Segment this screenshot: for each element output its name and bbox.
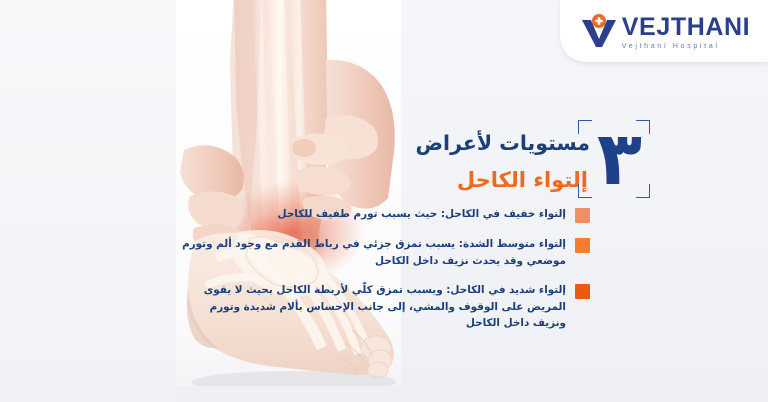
severity-marker-severe bbox=[575, 284, 590, 299]
list-item: إلتواء خفيف في الكاحل: حيث يسبب تورم طفي… bbox=[176, 206, 590, 223]
left-background-panel bbox=[0, 0, 176, 402]
headline-row: مستويات لأعراض ٣ bbox=[180, 126, 590, 162]
severity-text-mild: إلتواء خفيف في الكاحل: حيث يسبب تورم طفي… bbox=[176, 206, 566, 223]
bracket-corner-top-left bbox=[578, 120, 592, 134]
logo-subtitle: Vejthani Hospital bbox=[622, 42, 750, 49]
severity-marker-moderate bbox=[575, 238, 590, 253]
severity-marker-mild bbox=[575, 208, 590, 223]
list-item: إلتواء متوسط الشدة: يسبب تمزق جزئي في رب… bbox=[176, 236, 590, 269]
severity-text-moderate: إلتواء متوسط الشدة: يسبب تمزق جزئي في رب… bbox=[176, 236, 566, 269]
infographic-poster: VEJTHANI Vejthani Hospital مستويات لأعرا… bbox=[0, 0, 768, 402]
severity-text-severe: إلتواء شديد في الكاحل: ويسبب تمزق كلّي ل… bbox=[176, 282, 566, 332]
vejthani-v-mark-icon bbox=[578, 14, 620, 50]
headline-numeral-frame: ٣ bbox=[576, 120, 650, 198]
headline-line-1: مستويات لأعراض bbox=[180, 126, 590, 160]
headline-line-2: إلتواء الكاحل bbox=[180, 164, 590, 196]
brand-logo-card: VEJTHANI Vejthani Hospital bbox=[560, 0, 768, 62]
logo-wrap: VEJTHANI Vejthani Hospital bbox=[578, 14, 750, 50]
list-item: إلتواء شديد في الكاحل: ويسبب تمزق كلّي ل… bbox=[176, 282, 590, 332]
logo-name: VEJTHANI bbox=[622, 15, 750, 40]
logo-text: VEJTHANI Vejthani Hospital bbox=[622, 15, 750, 49]
bracket-corner-bottom-left bbox=[578, 184, 592, 198]
headline-numeral: ٣ bbox=[597, 122, 642, 196]
headline-block: مستويات لأعراض ٣ إلتواء الكاحل bbox=[180, 126, 590, 196]
severity-level-list: إلتواء خفيف في الكاحل: حيث يسبب تورم طفي… bbox=[176, 206, 590, 345]
